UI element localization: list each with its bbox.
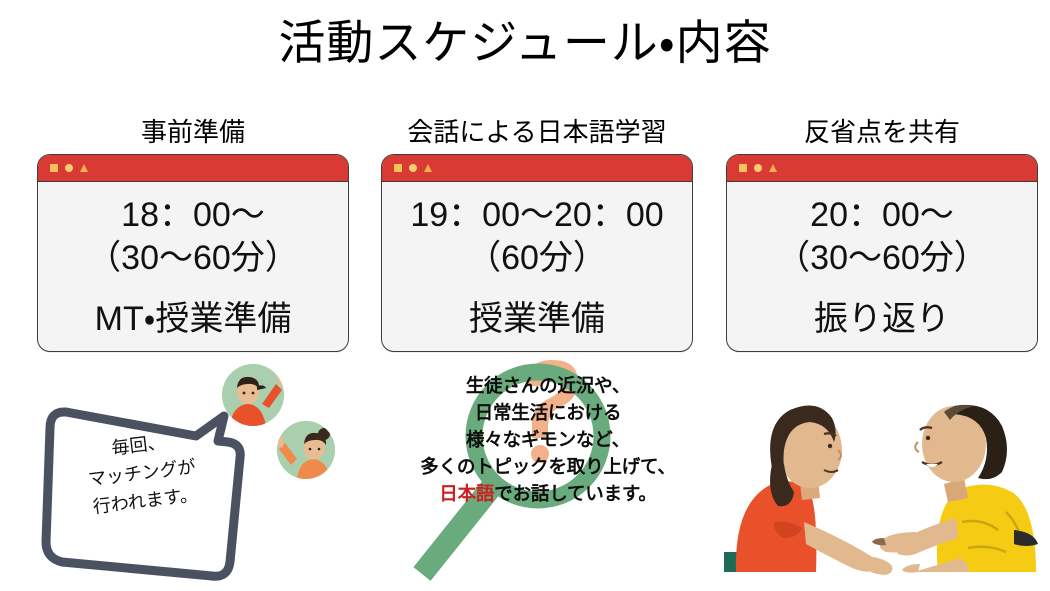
window-titlebar-1 <box>38 155 348 182</box>
column-heading-1: 事前準備 <box>37 118 349 147</box>
page-title: 活動スケジュール・内容 <box>0 16 1050 70</box>
triangle-icon <box>80 164 88 172</box>
column-heading-2: 会話による日本語学習 <box>381 118 693 147</box>
triangle-icon <box>424 164 432 172</box>
triangle-icon <box>769 164 777 172</box>
square-icon <box>739 164 747 172</box>
schedule-card-1[interactable]: 18：00〜 （30〜60分） MT・授業準備 <box>37 154 349 352</box>
card-duration-1: （30〜60分） <box>87 237 299 281</box>
schedule-column-1: 事前準備 18：00〜 （30〜60分） MT・授業準備 <box>37 118 349 352</box>
circle-icon <box>754 164 762 172</box>
circle-icon <box>409 164 417 172</box>
note-line-1: 生徒さんの近況や、 <box>398 372 698 399</box>
window-titlebar-3 <box>727 155 1037 182</box>
note-line-3: 様々なギモンなど、 <box>398 426 698 453</box>
circle-icon <box>65 164 73 172</box>
schedule-column-3: 反省点を共有 20：00〜 （30〜60分） 振り返り <box>726 118 1038 352</box>
schedule-card-3[interactable]: 20：00〜 （30〜60分） 振り返り <box>726 154 1038 352</box>
note-highlight: 日本語 <box>439 483 494 504</box>
note-line-5: 日本語でお話しています。 <box>398 480 698 507</box>
card-activity-3: 振り返り <box>727 301 1037 338</box>
card-duration-2: （60分） <box>467 237 607 281</box>
note-line-4: 多くのトピックを取り上げて、 <box>398 453 698 480</box>
card-duration-3: （30〜60分） <box>776 237 988 281</box>
card-time-3: 20：00〜 <box>810 194 954 238</box>
schedule-card-2[interactable]: 19：00〜20：00 （60分） 授業準備 <box>381 154 693 352</box>
schedule-column-2: 会話による日本語学習 19：00〜20：00 （60分） 授業準備 <box>381 118 693 352</box>
note-line-2: 日常生活における <box>398 399 698 426</box>
window-body-2: 19：00〜20：00 （60分） 授業準備 <box>382 182 692 351</box>
window-titlebar-2 <box>382 155 692 182</box>
speech-bubble-shape <box>28 392 256 582</box>
man-figure <box>872 405 1038 573</box>
speech-bubble: 毎回、 マッチングが 行われます。 <box>28 392 256 582</box>
avatar <box>277 421 335 479</box>
slide-canvas: 活動スケジュール・内容 事前準備 18：00〜 （30〜60分） MT・授業準備… <box>0 0 1050 591</box>
square-icon <box>394 164 402 172</box>
woman-figure <box>724 406 892 576</box>
center-note-text: 生徒さんの近況や、 日常生活における 様々なギモンなど、 多くのトピックを取り上… <box>398 372 698 507</box>
square-icon <box>50 164 58 172</box>
note-line-5-rest: でお話しています。 <box>494 483 656 504</box>
card-time-1: 18：00〜 <box>121 194 265 238</box>
waving-person-icon <box>277 421 335 479</box>
column-heading-3: 反省点を共有 <box>726 118 1038 147</box>
two-people-conversation-illustration <box>706 372 1050 591</box>
card-time-2: 19：00〜20：00 <box>410 194 663 238</box>
card-activity-2: 授業準備 <box>382 301 692 338</box>
card-activity-1: MT・授業準備 <box>38 301 348 338</box>
window-body-3: 20：00〜 （30〜60分） 振り返り <box>727 182 1037 351</box>
window-body-1: 18：00〜 （30〜60分） MT・授業準備 <box>38 182 348 351</box>
